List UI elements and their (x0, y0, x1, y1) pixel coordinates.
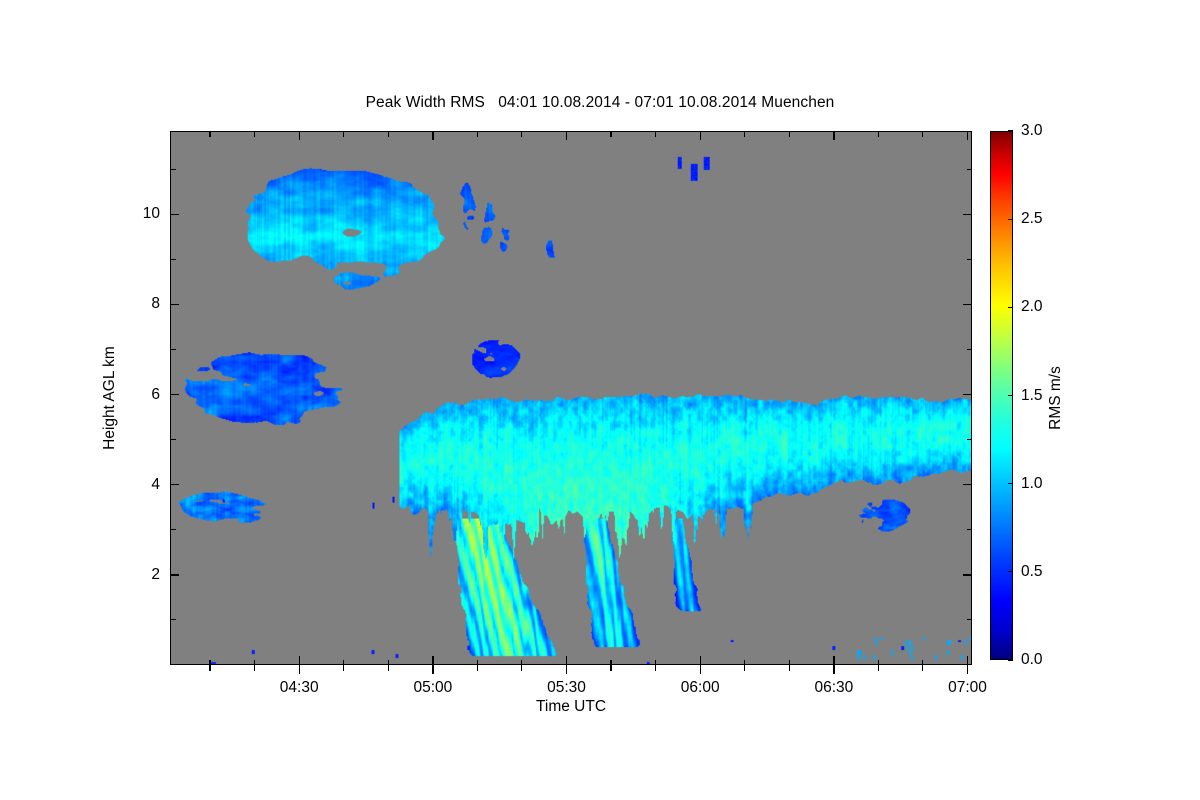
x-tick-major (833, 656, 834, 665)
x-tick-minor (922, 660, 923, 666)
x-tick-label: 06:30 (814, 679, 853, 697)
x-tick-major (700, 665, 701, 674)
colorbar-tick-label: 0.5 (1021, 563, 1043, 581)
y-tick-major (170, 214, 179, 215)
y-tick-major (170, 574, 179, 575)
y-tick-label: 6 (124, 386, 160, 404)
x-tick-top (610, 131, 611, 137)
x-tick-top (833, 131, 834, 140)
y-tick-right (967, 349, 973, 350)
x-tick-top (700, 131, 701, 140)
heatmap-image (171, 132, 971, 664)
y-tick-major (170, 304, 179, 305)
x-tick-minor (521, 665, 522, 671)
x-tick-top (521, 131, 522, 137)
y-tick-label: 2 (124, 566, 160, 584)
x-tick-label: 04:30 (280, 679, 319, 697)
y-tick-right (967, 169, 973, 170)
y-tick-right (963, 304, 972, 305)
x-tick-top (388, 131, 389, 137)
x-tick-top (254, 131, 255, 137)
colorbar-tick-label: 3.0 (1021, 122, 1043, 140)
x-tick-major (967, 656, 968, 665)
colorbar-tick (1008, 307, 1013, 308)
x-tick-minor (477, 665, 478, 671)
x-tick-minor (610, 665, 611, 671)
y-tick-right (967, 259, 973, 260)
y-tick-minor (170, 619, 176, 620)
x-tick-top (299, 131, 300, 140)
y-tick-right (967, 439, 973, 440)
x-axis-label: Time UTC (170, 698, 972, 716)
x-tick-minor (254, 660, 255, 666)
x-tick-label: 05:30 (547, 679, 586, 697)
x-tick-top (432, 131, 433, 140)
x-tick-minor (610, 660, 611, 666)
y-tick-minor (170, 349, 176, 350)
colorbar-tick (1008, 395, 1013, 396)
y-tick-minor (170, 439, 176, 440)
colorbar-tick (1008, 130, 1013, 131)
y-tick-right (967, 529, 973, 530)
x-tick-top (878, 131, 879, 137)
x-tick-minor (254, 665, 255, 671)
x-tick-label: 06:00 (681, 679, 720, 697)
x-tick-minor (521, 660, 522, 666)
y-tick-right (963, 394, 972, 395)
x-tick-minor (744, 660, 745, 666)
x-tick-label: 07:00 (948, 679, 987, 697)
x-tick-minor (922, 665, 923, 671)
x-tick-top (789, 131, 790, 137)
y-tick-major (170, 484, 179, 485)
x-tick-major (299, 665, 300, 674)
colorbar-tick-label: 1.5 (1021, 387, 1043, 405)
y-tick-minor (170, 259, 176, 260)
x-tick-minor (209, 665, 210, 671)
y-tick-right (963, 574, 972, 575)
y-tick-major (170, 394, 179, 395)
x-tick-minor (655, 660, 656, 666)
x-tick-minor (789, 665, 790, 671)
x-tick-top (209, 131, 210, 137)
y-tick-right (967, 619, 973, 620)
x-tick-top (655, 131, 656, 137)
x-tick-minor (477, 660, 478, 666)
x-tick-minor (343, 665, 344, 671)
x-tick-major (700, 656, 701, 665)
x-tick-minor (388, 660, 389, 666)
x-tick-top (343, 131, 344, 137)
page-title: Peak Width RMS 04:01 10.08.2014 - 07:01 … (0, 94, 1200, 112)
y-tick-minor (170, 169, 176, 170)
x-tick-major (833, 665, 834, 674)
colorbar-tick-label: 2.0 (1021, 298, 1043, 316)
x-tick-minor (878, 660, 879, 666)
x-tick-major (432, 665, 433, 674)
colorbar-tick (1008, 219, 1013, 220)
x-tick-major (566, 656, 567, 665)
y-tick-right (963, 214, 972, 215)
x-tick-top (744, 131, 745, 137)
y-axis-label: Height AGL km (101, 346, 119, 450)
y-tick-right (963, 484, 972, 485)
x-tick-minor (209, 660, 210, 666)
x-tick-major (566, 665, 567, 674)
x-tick-top (566, 131, 567, 140)
y-tick-label: 8 (124, 295, 160, 313)
x-tick-major (432, 656, 433, 665)
x-tick-major (299, 656, 300, 665)
y-tick-label: 4 (124, 476, 160, 494)
x-tick-minor (744, 665, 745, 671)
x-tick-minor (388, 665, 389, 671)
colorbar-tick-label: 0.0 (1021, 651, 1043, 669)
heatmap-plot-area[interactable] (170, 131, 972, 665)
x-tick-minor (789, 660, 790, 666)
colorbar-tick (1008, 659, 1013, 660)
x-tick-label: 05:00 (413, 679, 452, 697)
x-tick-minor (343, 660, 344, 666)
y-tick-label: 10 (124, 205, 160, 223)
x-tick-top (477, 131, 478, 137)
x-tick-minor (655, 665, 656, 671)
x-tick-minor (878, 665, 879, 671)
y-tick-minor (170, 529, 176, 530)
colorbar-tick-label: 2.5 (1021, 210, 1043, 228)
colorbar-tick (1008, 571, 1013, 572)
colorbar-tick-label: 1.0 (1021, 475, 1043, 493)
colorbar-label: RMS m/s (1047, 366, 1065, 430)
x-tick-top (922, 131, 923, 137)
figure-canvas: Peak Width RMS 04:01 10.08.2014 - 07:01 … (0, 0, 1200, 800)
x-tick-major (967, 665, 968, 674)
x-tick-top (967, 131, 968, 140)
colorbar-tick (1008, 483, 1013, 484)
